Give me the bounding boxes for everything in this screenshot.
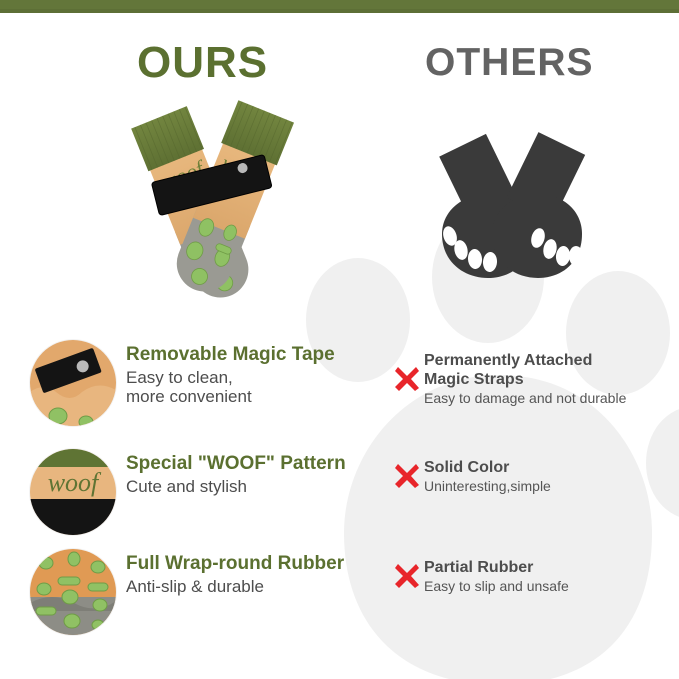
full-wrap-round-rubber-thumbnail[interactable]: [30, 549, 116, 635]
other-feature-title: Permanently Attached Magic Straps: [424, 351, 674, 389]
other-feature-title: Solid Color: [424, 458, 674, 477]
other-feature-text: Permanently Attached Magic Straps Easy t…: [424, 351, 674, 407]
other-feature-text: Solid Color Uninteresting,simple: [424, 458, 674, 495]
other-feature-subtitle: Uninteresting,simple: [424, 478, 674, 495]
red-x-icon: [392, 461, 422, 491]
our-feature-text: Full Wrap-round Rubber Anti-slip & durab…: [126, 553, 396, 596]
our-feature-text: Removable Magic Tape Easy to clean, more…: [126, 344, 396, 406]
red-x-icon: [392, 561, 422, 591]
other-feature-text: Partial Rubber Easy to slip and unsafe: [424, 558, 674, 595]
removable-magic-tape-thumbnail[interactable]: [30, 340, 116, 426]
our-feature-subtitle-line2: more convenient: [126, 387, 396, 406]
comparison-infographic: OURS OTHERS: [0, 0, 679, 679]
our-feature-subtitle: Cute and stylish: [126, 477, 396, 496]
feature-rows: Removable Magic Tape Easy to clean, more…: [0, 0, 679, 679]
our-feature-subtitle: Anti-slip & durable: [126, 577, 396, 596]
our-feature-subtitle-line1: Easy to clean,: [126, 368, 396, 387]
red-x-icon: [392, 364, 422, 394]
our-feature-text: Special "WOOF" Pattern Cute and stylish: [126, 453, 396, 496]
other-feature-title: Partial Rubber: [424, 558, 674, 577]
other-feature-title-line2: Magic Straps: [424, 370, 674, 389]
our-feature-subtitle: Easy to clean, more convenient: [126, 368, 396, 406]
our-feature-title: Full Wrap-round Rubber: [126, 553, 396, 575]
other-feature-subtitle: Easy to slip and unsafe: [424, 578, 674, 595]
our-feature-title: Special "WOOF" Pattern: [126, 453, 396, 475]
svg-text:woof: woof: [48, 468, 102, 497]
other-feature-title-line1: Permanently Attached: [424, 351, 674, 370]
woof-pattern-thumbnail[interactable]: woof: [30, 449, 116, 535]
our-feature-title: Removable Magic Tape: [126, 344, 396, 366]
other-feature-subtitle: Easy to damage and not durable: [424, 390, 674, 407]
